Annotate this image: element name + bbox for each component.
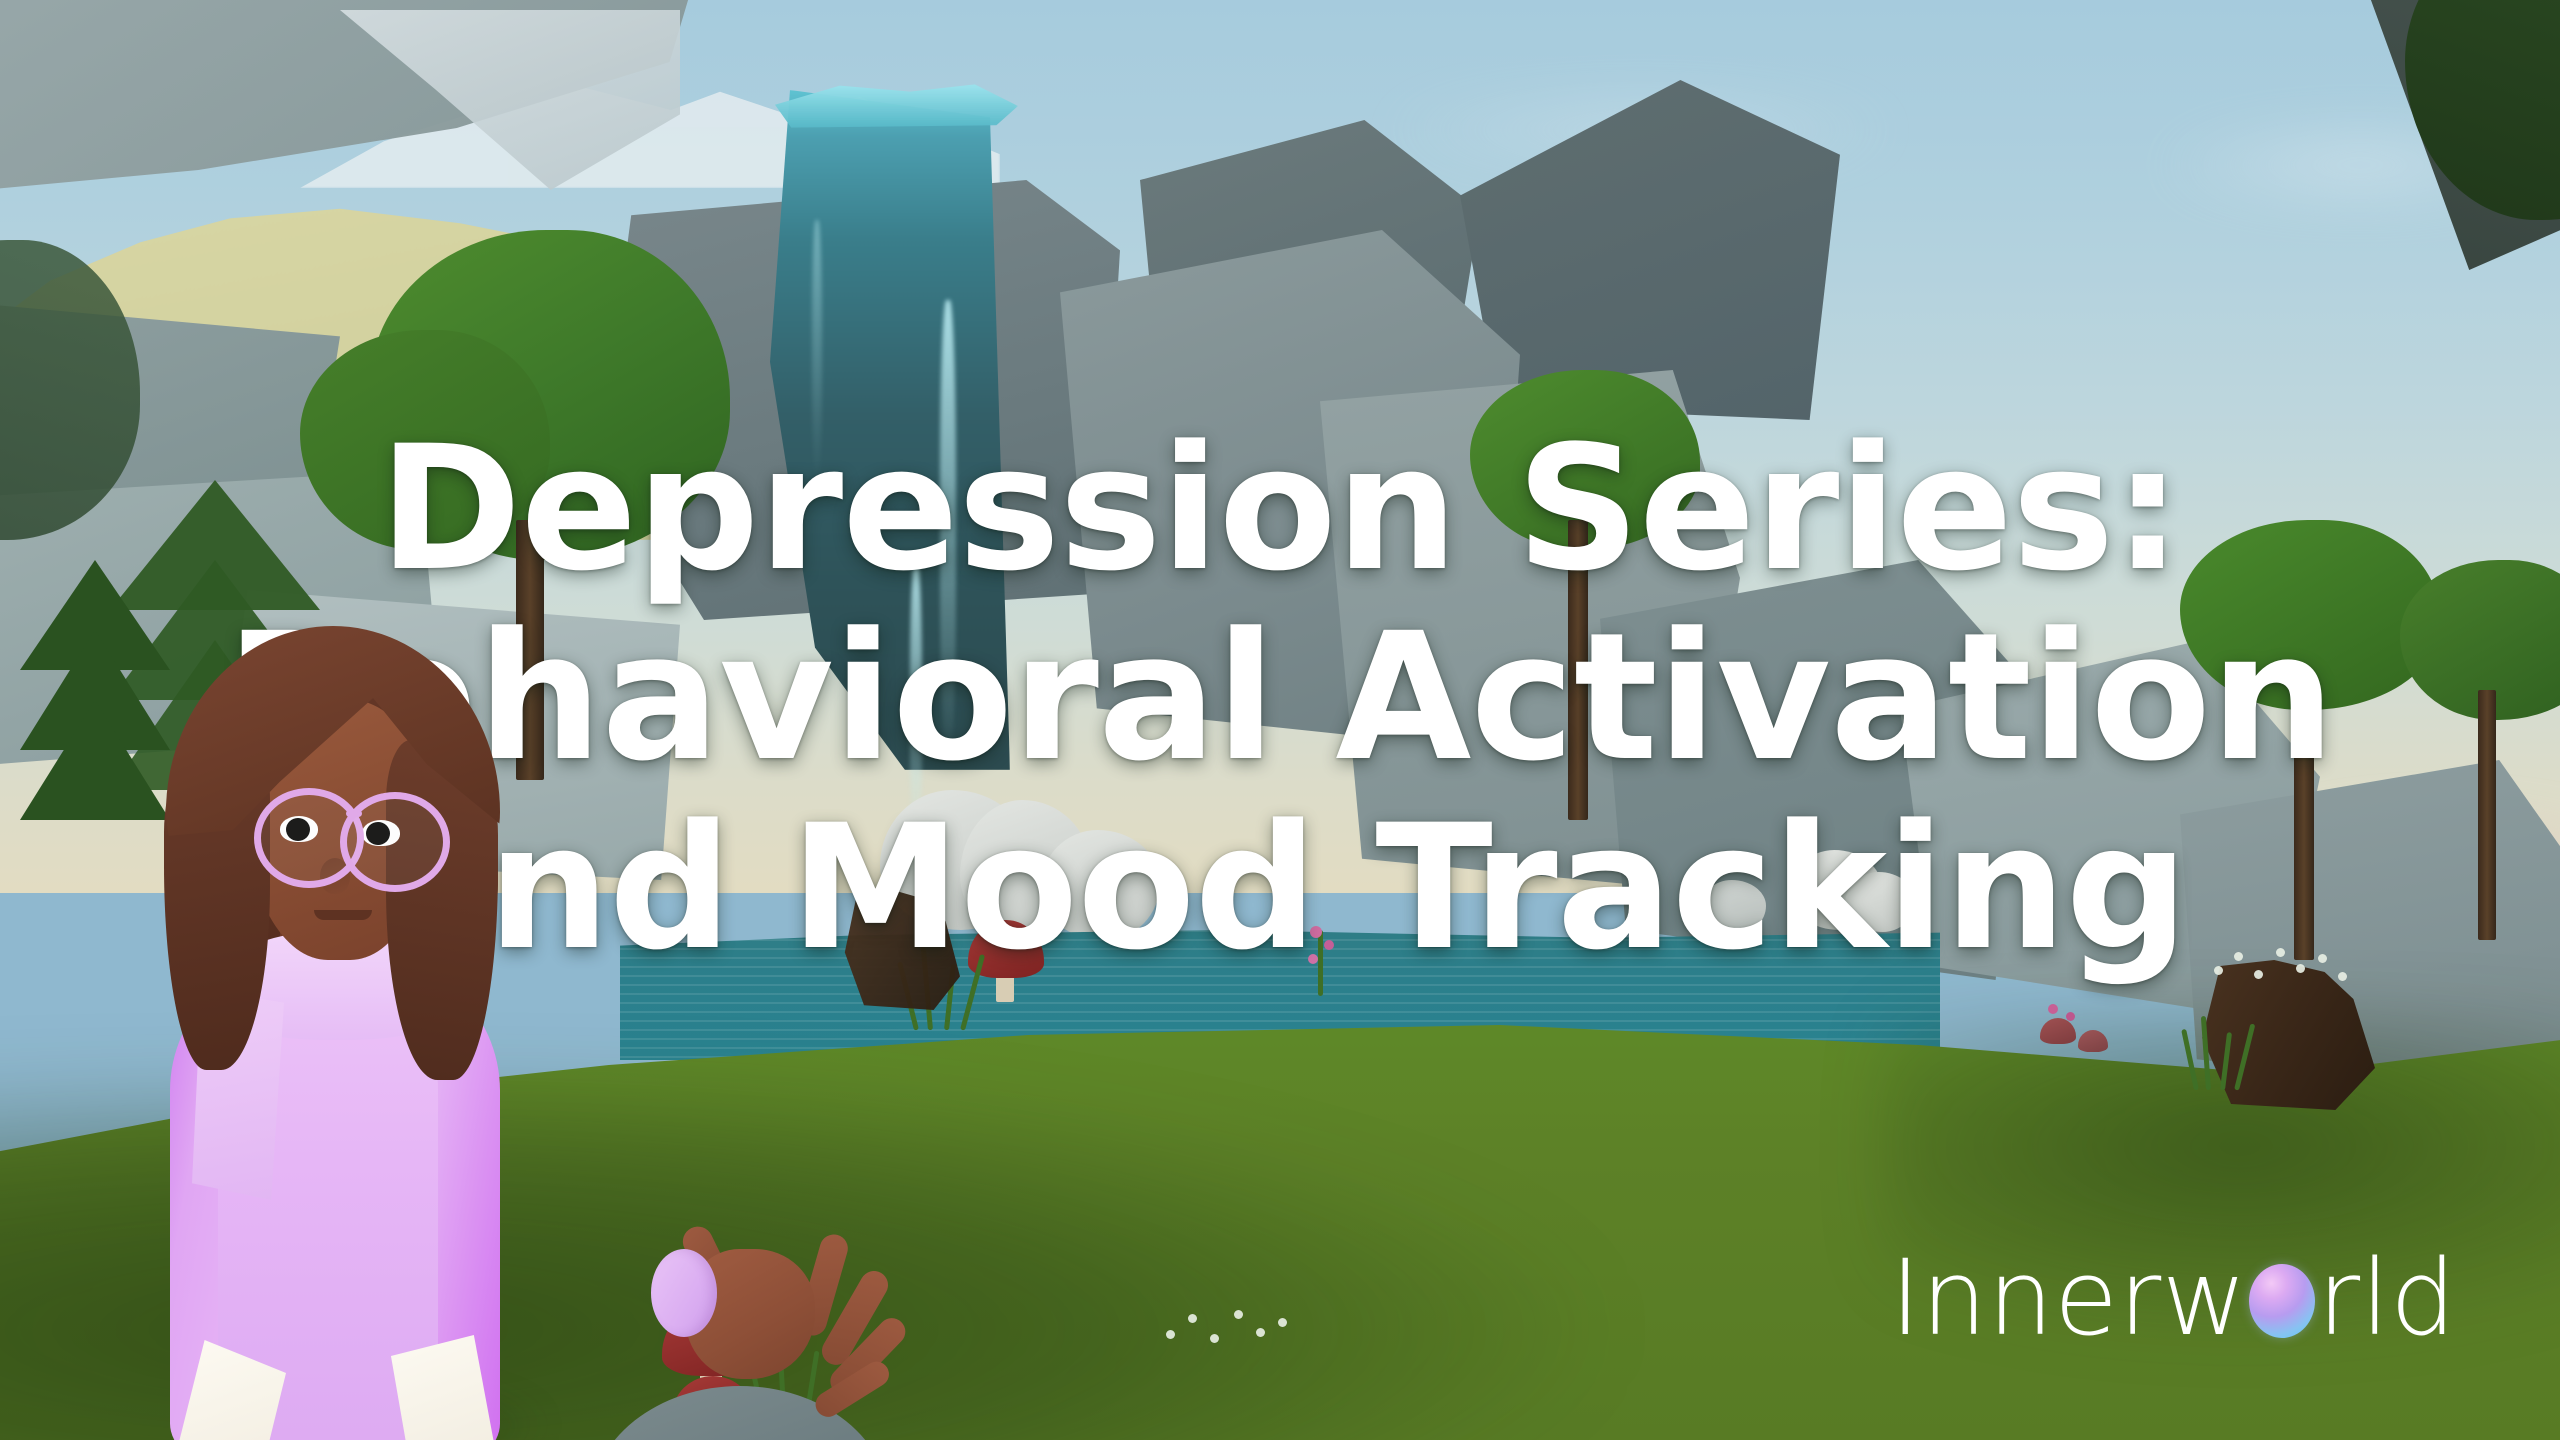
boulder-5 <box>1845 872 1915 932</box>
avatar-glasses-bridge <box>346 810 362 817</box>
avatar-glasses-lens-right <box>340 792 450 892</box>
logo-orb-icon <box>2249 1264 2315 1338</box>
tree-trunk-mid <box>1568 520 1588 820</box>
tree-trunk-right <box>2294 670 2314 960</box>
white-flowers-stump <box>2210 940 2370 1000</box>
grass-tuft-stump <box>2190 1010 2250 1090</box>
tree-trunk-far-right <box>2478 690 2496 940</box>
vr-hand <box>655 1225 875 1425</box>
boulder-3 <box>1040 830 1160 940</box>
avatar <box>150 620 570 1440</box>
hand-cuff <box>651 1249 717 1337</box>
conifer-far-left <box>20 560 170 790</box>
innerworld-logo[interactable]: Innerw rld <box>1890 1246 2456 1350</box>
avatar-mouth <box>314 910 372 920</box>
pink-blossom-sprig <box>1300 920 1346 996</box>
pink-blossom-sprig-right <box>2040 1000 2100 1060</box>
boulder-6 <box>1700 880 1766 934</box>
logo-text-prefix: Innerw <box>1890 1246 2247 1350</box>
logo-text-suffix: rld <box>2317 1246 2456 1350</box>
vr-title-card: Depression Series: Behavioral Activation… <box>0 0 2560 1440</box>
waterfall-streak-c <box>812 220 822 480</box>
tree-foliage-left-lower <box>300 330 550 550</box>
white-flowers-foreground <box>1160 1300 1310 1360</box>
waterfall-streak-a <box>940 300 956 760</box>
